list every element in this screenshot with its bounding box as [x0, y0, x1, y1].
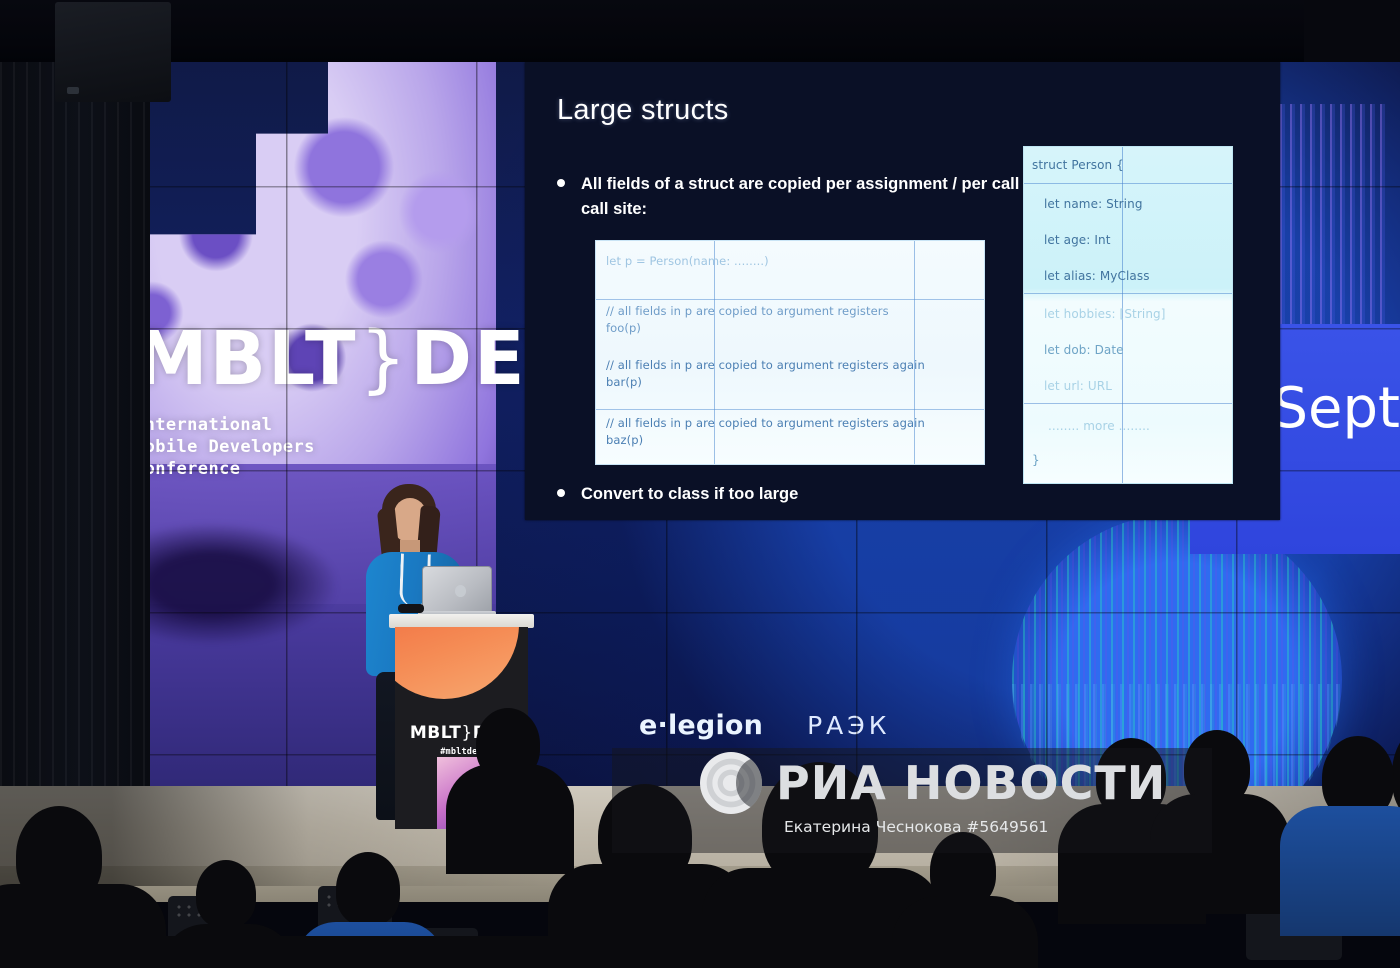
brand-tagline: International Mobile Developers Conferen… [134, 414, 554, 480]
watermark-credit: Екатерина Чеснокова #5649561 [784, 818, 1048, 836]
ria-swirl-icon [700, 752, 762, 814]
sponsor-logos: e·legion РАЭК [639, 710, 890, 741]
apple-logo-icon [455, 585, 466, 597]
ceiling-right-dark [1304, 0, 1400, 62]
podium: MBLT}DEV #mbltdev [395, 614, 528, 828]
struct-footer: } [1032, 453, 1226, 467]
podium-body: MBLT}DEV #mbltdev [395, 627, 528, 829]
struct-more-label: ........ more ........ [1048, 419, 1226, 433]
microphone [398, 604, 424, 613]
code-grid-hline-2 [596, 409, 984, 410]
slide-bullet-1-text: All fields of a struct are copied per as… [581, 172, 1062, 222]
audience-shoulders [892, 896, 1038, 968]
slide-bullet-2-text: Convert to class if too large [581, 482, 798, 507]
bullet-dot-icon [557, 179, 565, 187]
tagline-line-1: International [134, 414, 554, 436]
struct-field-2: let age: Int [1044, 233, 1226, 247]
tagline-line-2: Mobile Developers [134, 436, 554, 458]
sept-label: Sept [1272, 376, 1400, 441]
podium-orange-graphic [395, 627, 519, 699]
code-block: let p = Person(name: ........) // all fi… [595, 240, 985, 465]
bullet-dot-icon [557, 489, 565, 497]
struct-header: struct Person { [1032, 158, 1226, 172]
struct-grid-hline-1 [1024, 183, 1232, 184]
struct-field-6: let url: URL [1044, 379, 1226, 393]
podium-art-graphic [437, 757, 528, 829]
laptop-lid [422, 566, 492, 612]
code-line-1: let p = Person(name: ........) [606, 253, 978, 270]
slide-bullet-1: All fields of a struct are copied per as… [557, 172, 1062, 222]
struct-field-3: let alias: MyClass [1044, 269, 1226, 283]
code-grid-hline-1 [596, 299, 984, 300]
podium-wordmark: MBLT}DEV [395, 723, 528, 743]
laptop [418, 566, 496, 618]
audience-chair [408, 928, 478, 968]
podium-word-left: MBLT [410, 723, 462, 743]
struct-field-4: let hobbies: [String] [1044, 307, 1226, 321]
watermark: РИА НОВОСТИ [700, 752, 1166, 814]
brand-word-left: MBLT [134, 316, 357, 402]
wall-marble-fleck [116, 514, 356, 654]
stage-curtains [0, 0, 150, 880]
sponsor-raec-logo: РАЭК [807, 711, 890, 740]
watermark-agency-name: РИА НОВОСТИ [776, 756, 1166, 810]
struct-field-5: let dob: Date [1044, 343, 1226, 357]
ceiling [0, 0, 1400, 62]
code-line-3: // all fields in p are copied to argumen… [606, 357, 978, 390]
podium-top-surface [389, 614, 534, 628]
struct-field-1: let name: String [1044, 197, 1226, 211]
audience-chair [612, 900, 690, 968]
code-line-4: // all fields in p are copied to argumen… [606, 415, 978, 448]
stage-scene: Sept MBLT}DEV International Mobile Devel… [0, 0, 1400, 968]
slide-bullet-2: Convert to class if too large [557, 482, 1037, 507]
struct-person-block: struct Person { let name: String let age… [1023, 146, 1233, 484]
podium-hashtag: #mbltdev [395, 747, 528, 757]
code-line-2: // all fields in p are copied to argumen… [606, 303, 978, 336]
pa-speaker-box [55, 2, 171, 102]
podium-word-right: DEV [473, 723, 513, 743]
audience-front-row [600, 952, 1030, 968]
brand-brace: } [357, 316, 410, 402]
audience-front-row [0, 936, 560, 968]
mblt-dev-brand: MBLT}DEV International Mobile Developers… [134, 324, 554, 481]
presentation-slide: Large structs All fields of a struct are… [525, 62, 1280, 520]
brand-wordmark: MBLT}DEV [134, 324, 554, 394]
tagline-line-3: Conference [134, 458, 554, 480]
struct-grid-hline-2 [1024, 293, 1232, 294]
audience-blue-shirt [296, 922, 444, 968]
podium-brace: } [461, 723, 472, 743]
slide-title: Large structs [557, 94, 729, 127]
audience-chair [168, 896, 228, 962]
sponsor-elegion-logo: e·legion [639, 710, 763, 741]
struct-grid-hline-3 [1024, 403, 1232, 404]
audience-shoulders [160, 924, 296, 968]
